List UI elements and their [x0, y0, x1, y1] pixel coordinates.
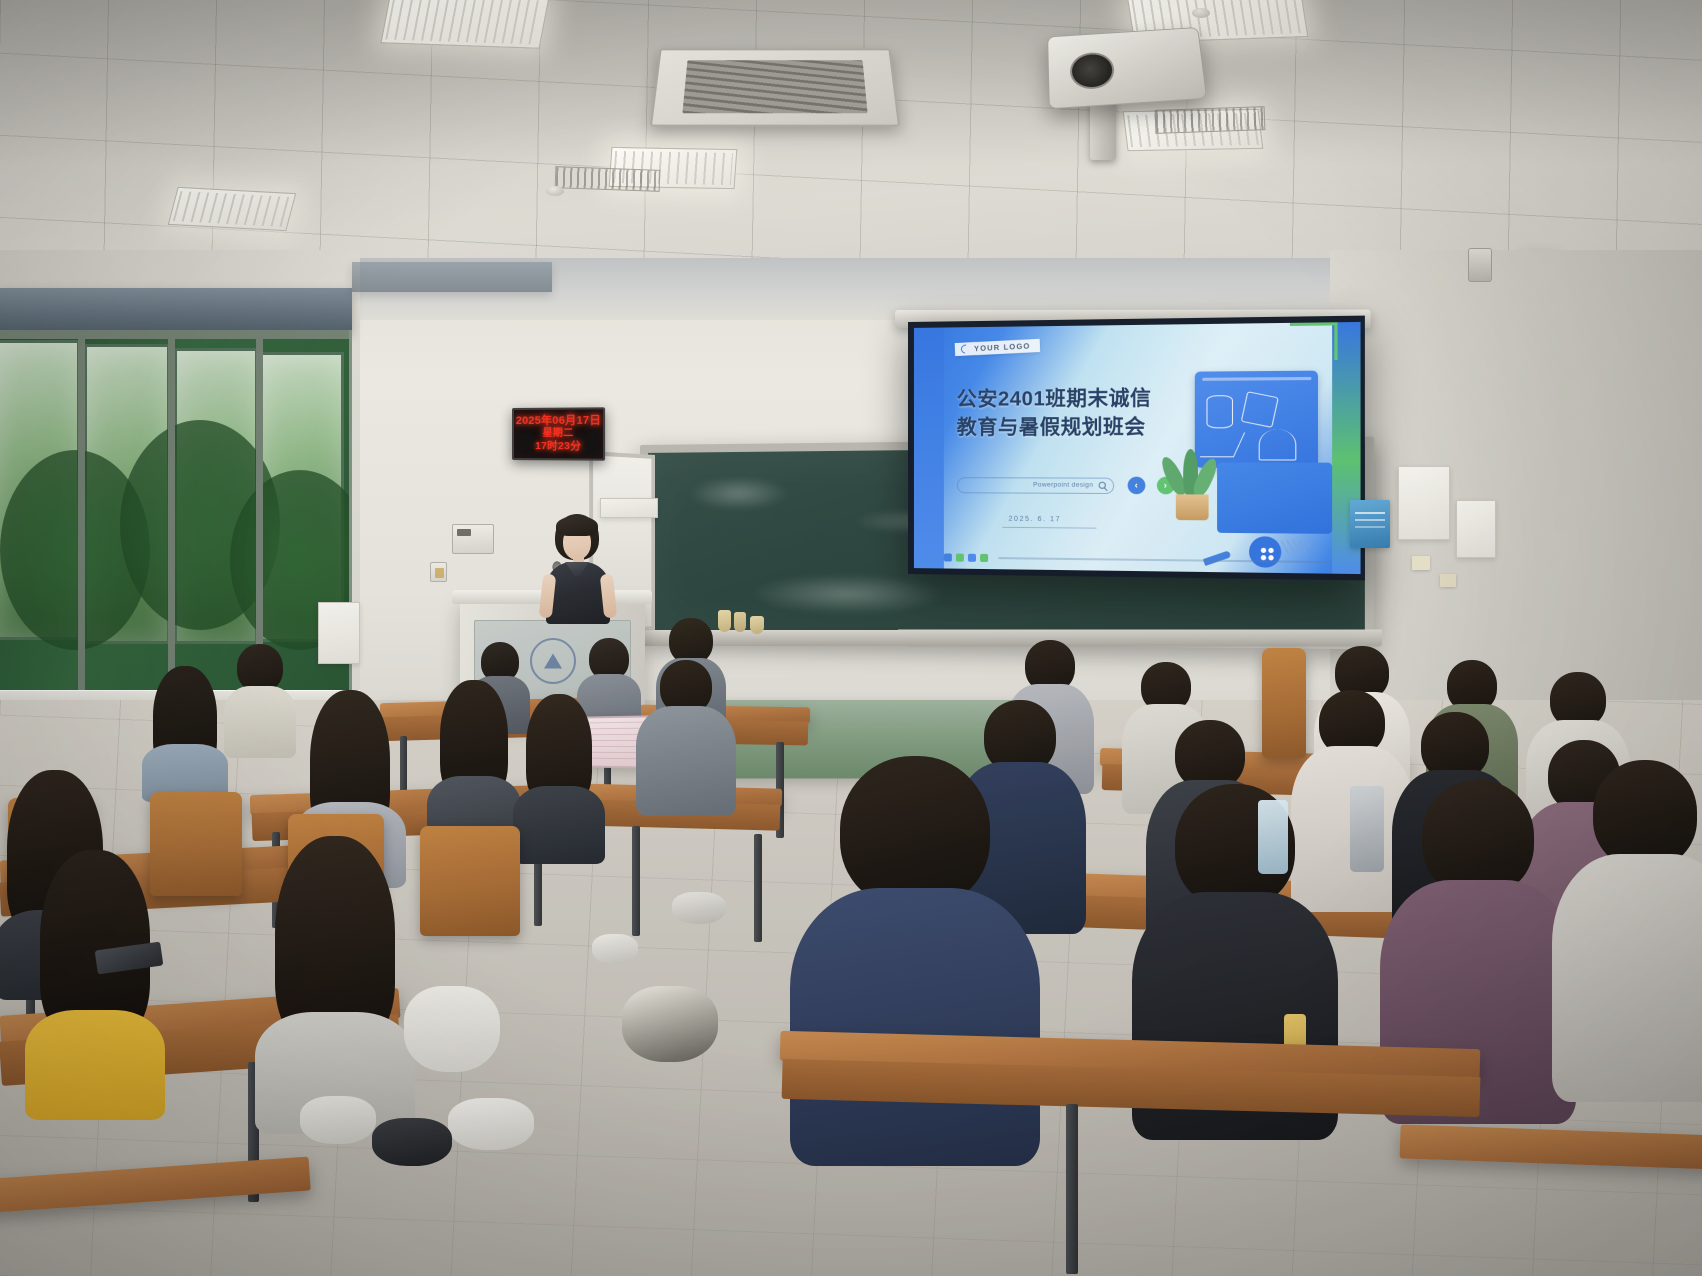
student-body: [513, 786, 605, 864]
slide-corner-accent: [1289, 322, 1337, 360]
toolbar-dot-1[interactable]: [944, 553, 952, 561]
slide-date: 2025. 6. 17: [1009, 516, 1062, 524]
chalk-tray: [636, 629, 1382, 646]
slide-title-line1: 公安2401班期末诚信: [957, 384, 1186, 414]
sticky-note-2: [1440, 574, 1456, 587]
presenter-fringe: [556, 516, 598, 536]
slide-search-text: Powerpoint design: [1033, 482, 1093, 489]
student-body: [224, 686, 296, 758]
smoke-detector-2: [1192, 8, 1210, 18]
thermos-bottle[interactable]: [1350, 786, 1384, 872]
shape-cone-icon: [1259, 429, 1296, 460]
wall-bracket: [1468, 248, 1492, 282]
led-clock-display: 2025年06月17日 星期二 17时23分: [512, 407, 605, 460]
student-left-row1-b: [146, 666, 224, 796]
slide-illustration-monitor-2: [1217, 463, 1332, 534]
shoe-1: [448, 1098, 534, 1150]
search-icon: [1098, 482, 1105, 489]
toolbar-dot-4[interactable]: [980, 553, 988, 561]
wall-notice-right-2: [1456, 500, 1496, 558]
slide-search-pill: Powerpoint design: [957, 477, 1114, 494]
shape-cube-icon: [1241, 391, 1279, 428]
shoe-5: [592, 934, 638, 964]
ceiling-light-1: [380, 0, 549, 49]
sticky-note-1: [1412, 556, 1430, 570]
slide-progress-bar[interactable]: [998, 557, 1332, 563]
ceiling-vent-strip-right: [1155, 106, 1266, 134]
smoke-detector-1: [546, 186, 564, 196]
ceiling-vent-strip-left: [555, 166, 661, 192]
student-head: [237, 644, 283, 692]
wall-control-panel[interactable]: [452, 524, 494, 554]
shoe-4: [672, 892, 726, 924]
backpack-on-floor: [622, 986, 718, 1062]
school-emblem: [530, 638, 576, 684]
desk-leg-r2-d: [754, 834, 762, 942]
student-mid-d: [640, 660, 732, 860]
slide-illustration-plant: [1163, 453, 1222, 520]
student-head: [1593, 760, 1697, 868]
student-head: [1422, 780, 1534, 896]
chairback-left-2: [150, 792, 242, 896]
student-near-left-b: [30, 850, 160, 1110]
window-valance-left: [0, 288, 352, 332]
student-body: [25, 1010, 165, 1120]
chalk-smudge-1: [688, 476, 790, 511]
logo-swoosh-icon: [959, 343, 972, 356]
student-left-row1-a: [228, 644, 292, 754]
tray-item-3: [750, 616, 764, 634]
chairback-left-4: [420, 826, 520, 936]
shape-cylinder-icon: [1207, 395, 1233, 428]
water-bottle-clear[interactable]: [1258, 800, 1288, 874]
toolbar-dot-3[interactable]: [968, 553, 976, 561]
slide-title: 公安2401班期末诚信 教育与暑假规划班会: [957, 384, 1186, 443]
student-mid-c: [516, 694, 602, 859]
clock-date: 2025年06月17日: [516, 414, 601, 428]
ceiling-light-3: [168, 187, 297, 231]
chalk-smudge-4: [749, 573, 947, 615]
presentation-slide: YOUR LOGO 公安2401班期末诚信 教育与暑假规划班会 Powerpoi…: [914, 322, 1361, 574]
clock-time: 17时23分: [535, 440, 581, 453]
toolbar-dot-2[interactable]: [956, 553, 964, 561]
student-mid-b: [430, 680, 518, 850]
projector-mount-arm: [1090, 98, 1116, 160]
tray-item-2: [734, 612, 746, 632]
shoe-2: [300, 1096, 376, 1144]
plant-pot: [1176, 494, 1209, 520]
slide-logo-tag: YOUR LOGO: [954, 339, 1039, 356]
student-body: [636, 706, 736, 816]
desk-leg-r2-c: [632, 826, 640, 936]
presenter-speaker: [541, 514, 615, 624]
ceiling-ac-vent: [650, 49, 900, 127]
window-side-board: [318, 602, 360, 664]
ceiling-projector: [1047, 27, 1207, 109]
slide-hatch-decoration: [1281, 539, 1309, 553]
projection-screen[interactable]: YOUR LOGO 公安2401班期末诚信 教育与暑假规划班会 Powerpoi…: [908, 316, 1365, 581]
slide-logo-text: YOUR LOGO: [973, 342, 1030, 354]
shoe-3: [372, 1118, 452, 1166]
wall-poster-blue: [1350, 500, 1390, 548]
student-near-left-c: [260, 836, 410, 1126]
student-head: [840, 756, 990, 908]
window-mullion-1: [78, 330, 85, 730]
wall-notice-right-1: [1398, 466, 1450, 540]
student-body: [790, 888, 1040, 1166]
slide-prev-button[interactable]: ‹: [1127, 476, 1145, 494]
student-right-near-d: [1560, 760, 1702, 1100]
clock-weekday: 星期二: [542, 428, 573, 440]
slide-left-band: [914, 328, 944, 569]
window-transom: [0, 330, 352, 339]
student-body: [1552, 854, 1702, 1102]
badge-dots: [1261, 548, 1266, 553]
emblem-star-icon: [544, 653, 562, 668]
wall-socket[interactable]: [430, 562, 447, 582]
cloth-on-desk: [404, 986, 500, 1072]
desk-leg-right-near: [1066, 1104, 1078, 1274]
slide-title-line2: 教育与暑假规划班会: [957, 413, 1186, 442]
wall-trim-band: [352, 262, 552, 292]
classroom-photo: YOUR LOGO 公安2401班期末诚信 教育与暑假规划班会 Powerpoi…: [0, 0, 1702, 1276]
